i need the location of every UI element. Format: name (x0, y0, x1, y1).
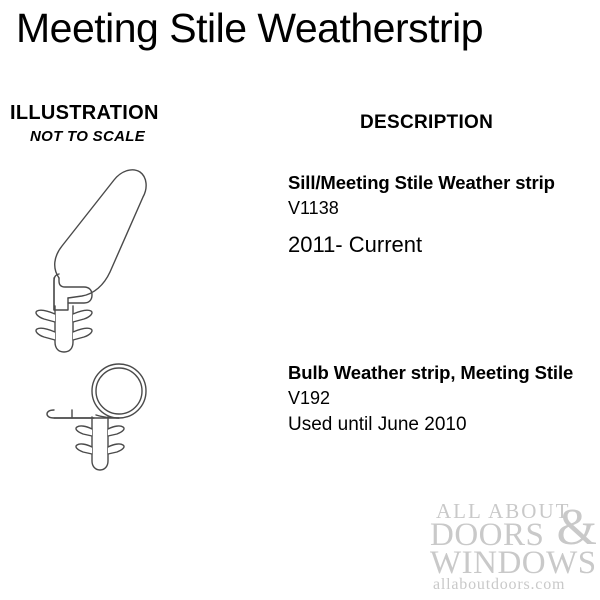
fin-body-outline (55, 170, 146, 298)
bulb-profile-drawing (36, 355, 161, 480)
barb-left-upper (36, 310, 55, 322)
bulb-outer-ring (92, 364, 146, 418)
sill-meeting-stile-profile-drawing (28, 160, 168, 355)
product-availability-2: Used until June 2010 (288, 412, 588, 438)
illustration-sill-meeting-stile (28, 160, 168, 360)
column-header-description: DESCRIPTION (360, 111, 493, 135)
barbed-stem (92, 417, 108, 470)
barb-left-upper (76, 426, 92, 436)
barb-right-lower (73, 328, 92, 340)
watermark-site-url: allaboutdoors.com (433, 576, 565, 594)
barb-right-upper (108, 426, 124, 436)
description-row-2: Bulb Weather strip, Meeting Stile V192 U… (288, 360, 588, 438)
bulb-inner-ring (96, 368, 142, 414)
column-header-illustration: ILLUSTRATION (10, 101, 159, 125)
description-row-1: Sill/Meeting Stile Weather strip V1138 2… (288, 170, 588, 260)
barb-left-lower (36, 328, 55, 340)
product-title-2: Bulb Weather strip, Meeting Stile (288, 360, 588, 385)
barb-right-upper (73, 310, 92, 322)
barbed-stem (55, 306, 73, 352)
barb-right-lower (108, 444, 124, 454)
product-part-number-1: V1138 (288, 195, 588, 222)
illustration-bulb-meeting-stile (36, 355, 161, 485)
product-availability-1: 2011- Current (288, 230, 588, 260)
watermark-line-windows: WINDOWS (430, 546, 597, 580)
product-part-number-2: V192 (288, 385, 588, 412)
weatherstrip-spec-sheet: Meeting Stile Weatherstrip ILLUSTRATION … (0, 0, 600, 600)
column-subheader-not-to-scale: NOT TO SCALE (30, 128, 145, 146)
watermark-logo: ALL ABOUT DOORS & WINDOWS allaboutdoors.… (430, 500, 595, 590)
barb-left-lower (76, 444, 92, 454)
product-title-1: Sill/Meeting Stile Weather strip (288, 170, 588, 195)
page-title: Meeting Stile Weatherstrip (16, 4, 596, 52)
